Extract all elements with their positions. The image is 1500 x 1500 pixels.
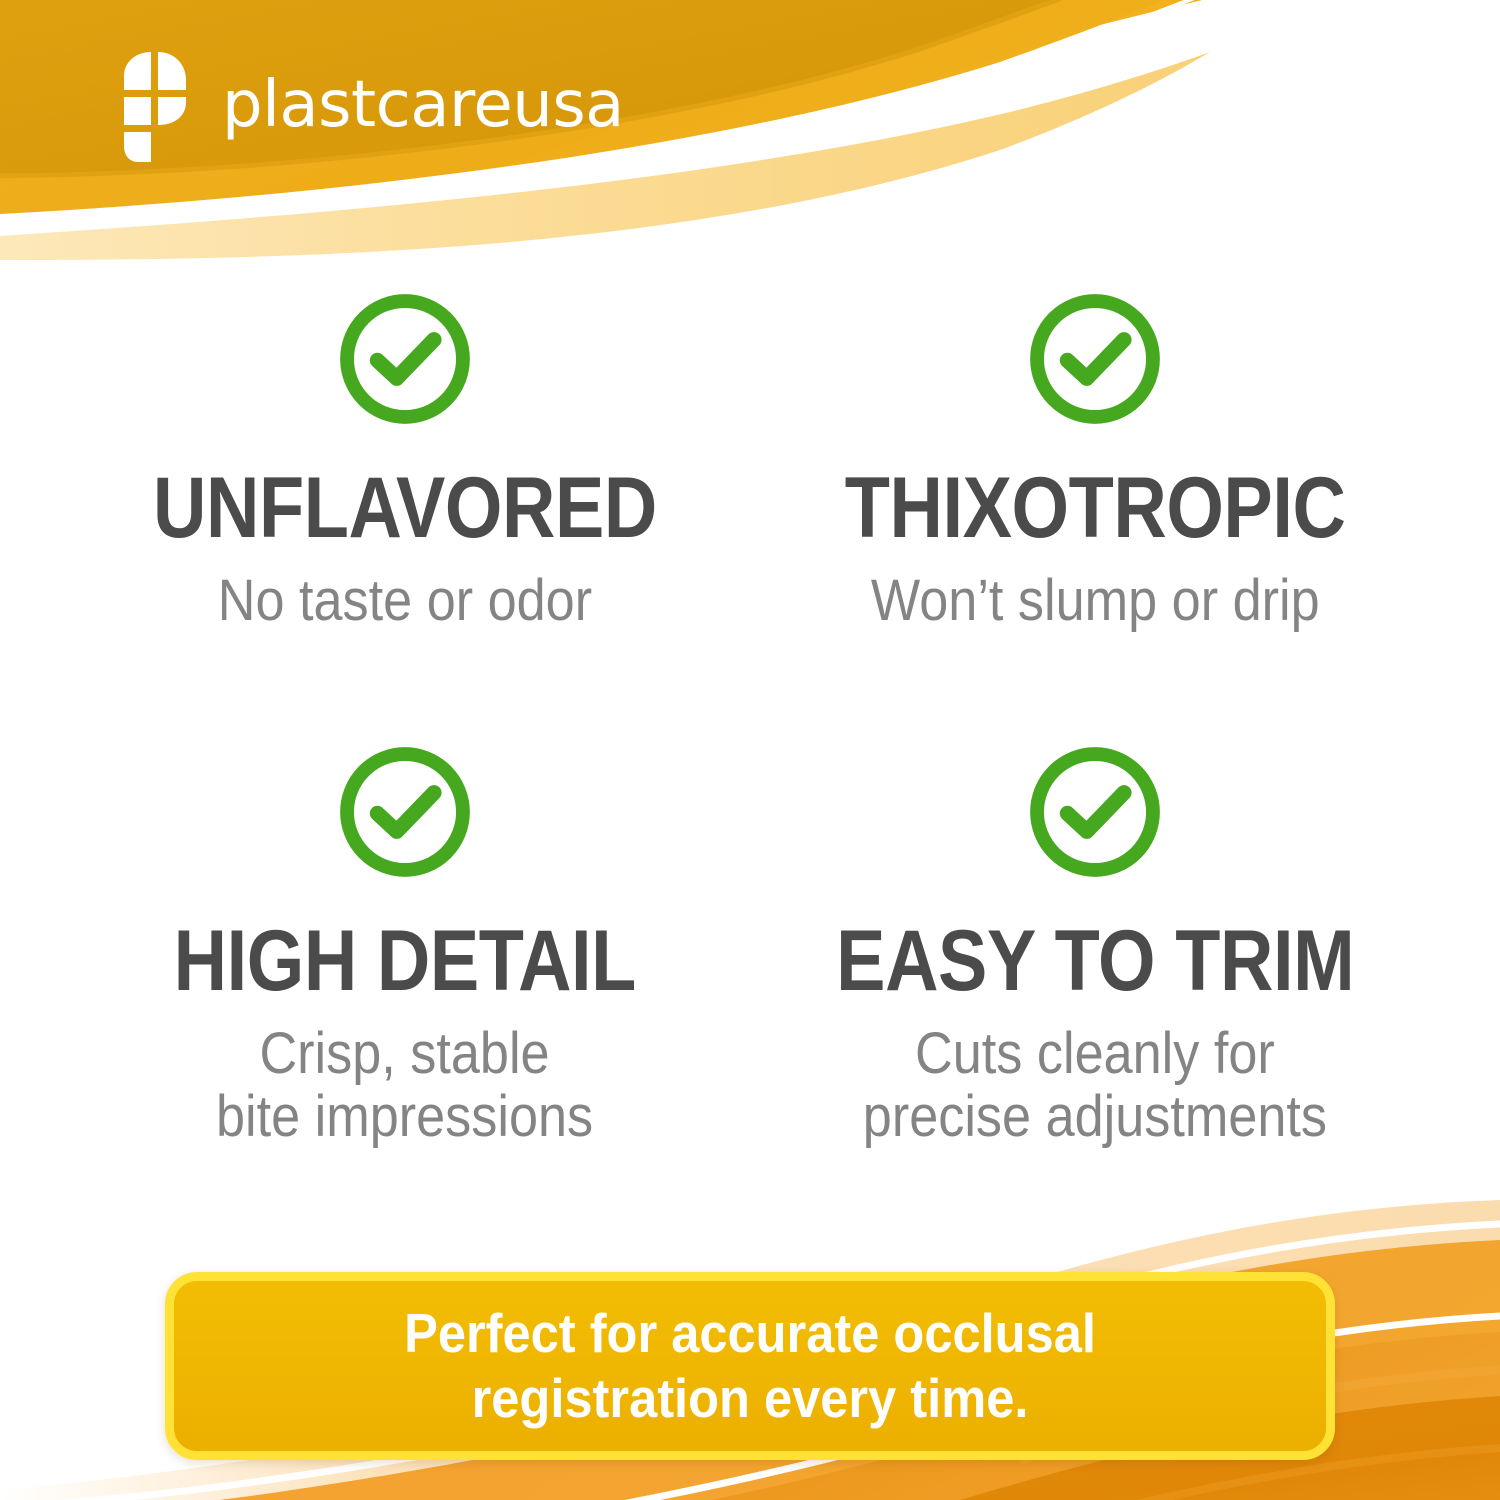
feature-subtitle-line: bite impressions <box>216 1086 593 1149</box>
feature-subtitle: Cuts cleanly for precise adjustments <box>863 1023 1327 1148</box>
feature-subtitle-line: Cuts cleanly for <box>863 1023 1327 1086</box>
plastcare-cross-p-icon <box>122 52 188 162</box>
feature-cell-thixotropic: THIXOTROPIC Won’t slump or drip <box>770 290 1420 633</box>
tagline-text: Perfect for accurate occlusal registrati… <box>404 1301 1096 1431</box>
feature-subtitle-line: Won’t slump or drip <box>871 570 1320 633</box>
tagline-banner: Perfect for accurate occlusal registrati… <box>165 1272 1335 1460</box>
check-circle-icon <box>1026 743 1164 881</box>
check-circle-icon <box>336 290 474 428</box>
tagline-line: registration every time. <box>404 1366 1096 1431</box>
feature-subtitle: Won’t slump or drip <box>871 570 1320 633</box>
tagline-line: Perfect for accurate occlusal <box>404 1301 1096 1366</box>
header-wave-band: plastcareusa <box>0 0 1500 260</box>
check-circle-icon <box>1026 290 1164 428</box>
feature-subtitle-line: Crisp, stable <box>216 1023 593 1086</box>
feature-subtitle: Crisp, stable bite impressions <box>216 1023 593 1148</box>
feature-title: UNFLAVORED <box>153 466 657 550</box>
feature-subtitle: No taste or odor <box>218 570 592 633</box>
brand-lockup: plastcareusa <box>122 52 624 162</box>
feature-title: THIXOTROPIC <box>845 466 1346 550</box>
feature-cell-unflavored: UNFLAVORED No taste or odor <box>80 290 730 633</box>
check-circle-icon <box>336 743 474 881</box>
feature-grid: UNFLAVORED No taste or odor THIXOTROPIC … <box>80 290 1420 1148</box>
feature-title: EASY TO TRIM <box>836 919 1354 1003</box>
feature-subtitle-line: precise adjustments <box>863 1086 1327 1149</box>
feature-cell-easy-to-trim: EASY TO TRIM Cuts cleanly for precise ad… <box>770 743 1420 1149</box>
brand-wordmark: plastcareusa <box>222 73 624 137</box>
feature-subtitle-line: No taste or odor <box>218 570 592 633</box>
feature-cell-high-detail: HIGH DETAIL Crisp, stable bite impressio… <box>80 743 730 1149</box>
promo-graphic-canvas: plastcareusa UNFLAVORED No taste or odor… <box>0 0 1500 1500</box>
feature-title: HIGH DETAIL <box>174 919 636 1003</box>
